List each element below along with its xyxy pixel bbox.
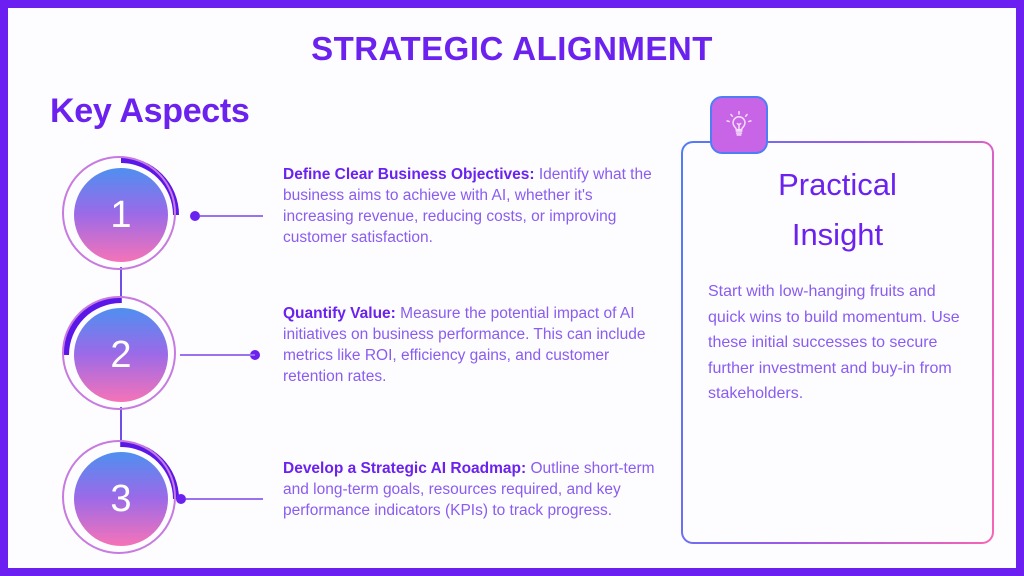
lightbulb-icon xyxy=(722,108,756,142)
lightbulb-badge xyxy=(710,96,768,154)
practical-insight-title-line1: Practical xyxy=(681,160,994,210)
step-dot-3 xyxy=(176,494,186,504)
step-text-1: Define Clear Business Objectives: Identi… xyxy=(283,164,663,248)
practical-insight-title: Practical Insight xyxy=(681,160,994,260)
step-text-2: Quantify Value: Measure the potential im… xyxy=(283,303,663,387)
step-circle-3: 3 xyxy=(62,440,180,558)
steps-list: 1 Define Clear Business Objectives: Iden… xyxy=(8,8,688,568)
step-heading-3: Develop a Strategic AI Roadmap: xyxy=(283,460,526,477)
step-circle-2: 2 xyxy=(62,296,180,414)
step-number-1: 1 xyxy=(74,168,168,262)
step-number-2: 2 xyxy=(74,308,168,402)
step-leader-line-2 xyxy=(180,354,255,356)
practical-insight-body: Start with low-hanging fruits and quick … xyxy=(708,279,970,407)
step-leader-line-3 xyxy=(186,498,263,500)
slide-canvas: STRATEGIC ALIGNMENT Key Aspects 1 Define… xyxy=(8,8,1016,568)
step-heading-1: Define Clear Business Objectives: xyxy=(283,166,535,183)
step-dot-1 xyxy=(190,211,200,221)
practical-insight-title-line2: Insight xyxy=(681,210,994,260)
step-leader-line-1 xyxy=(200,215,263,217)
step-circle-1: 1 xyxy=(62,156,180,274)
step-heading-2: Quantify Value: xyxy=(283,305,396,322)
step-text-3: Develop a Strategic AI Roadmap: Outline … xyxy=(283,458,663,521)
step-number-3: 3 xyxy=(74,452,168,546)
